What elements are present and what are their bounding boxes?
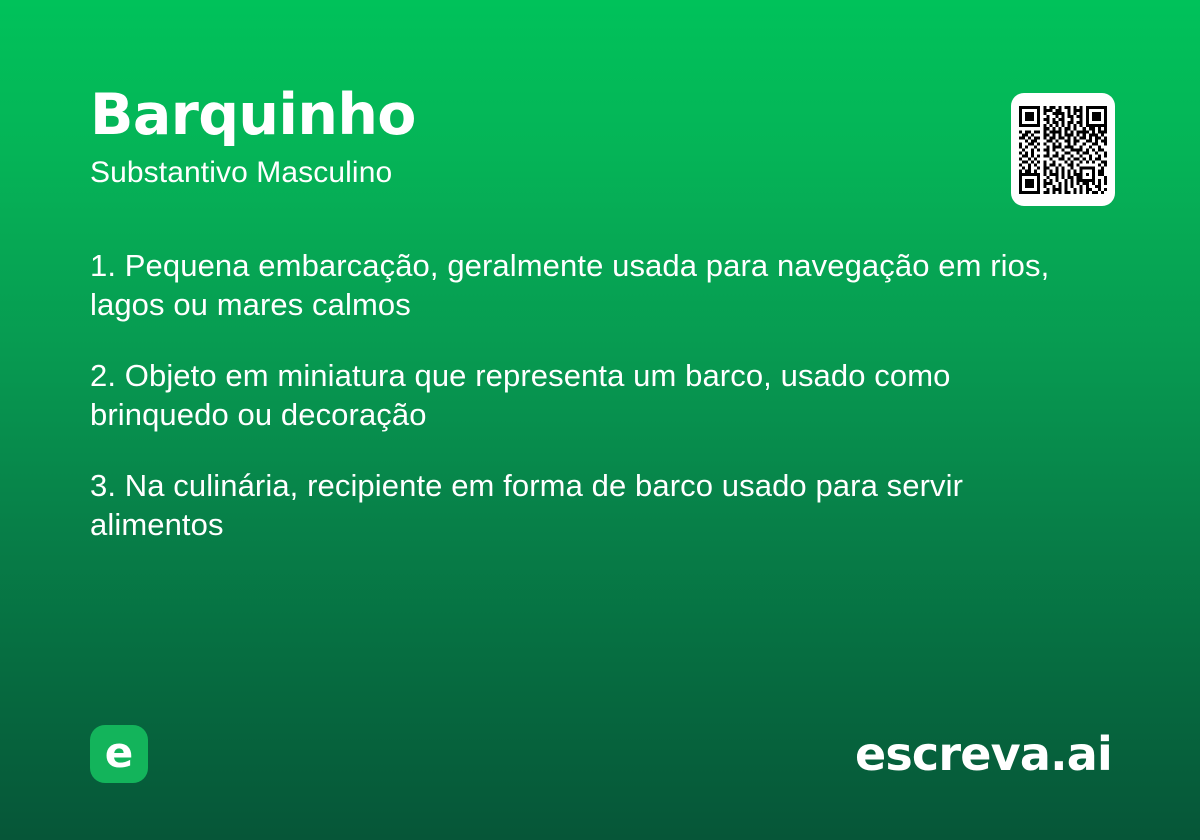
escreva-logo-icon: e (90, 725, 148, 783)
qr-code[interactable] (1011, 93, 1115, 206)
card-footer: e escreva.ai (90, 724, 1112, 784)
definition-item: 1. Pequena embarcação, geralmente usada … (90, 246, 1090, 324)
logo-letter: e (105, 732, 134, 774)
dictionary-card: Barquinho Substantivo Masculino (0, 0, 1200, 840)
qr-code-icon (1019, 106, 1107, 194)
word-class-label: Substantivo Masculino (90, 156, 1110, 190)
card-header: Barquinho Substantivo Masculino (90, 84, 1110, 214)
brand-name: escreva.ai (855, 729, 1112, 779)
definition-list: 1. Pequena embarcação, geralmente usada … (90, 246, 1090, 544)
page-title: Barquinho (90, 84, 1110, 146)
definition-item: 2. Objeto em miniatura que representa um… (90, 356, 1090, 434)
definition-item: 3. Na culinária, recipiente em forma de … (90, 466, 1090, 544)
